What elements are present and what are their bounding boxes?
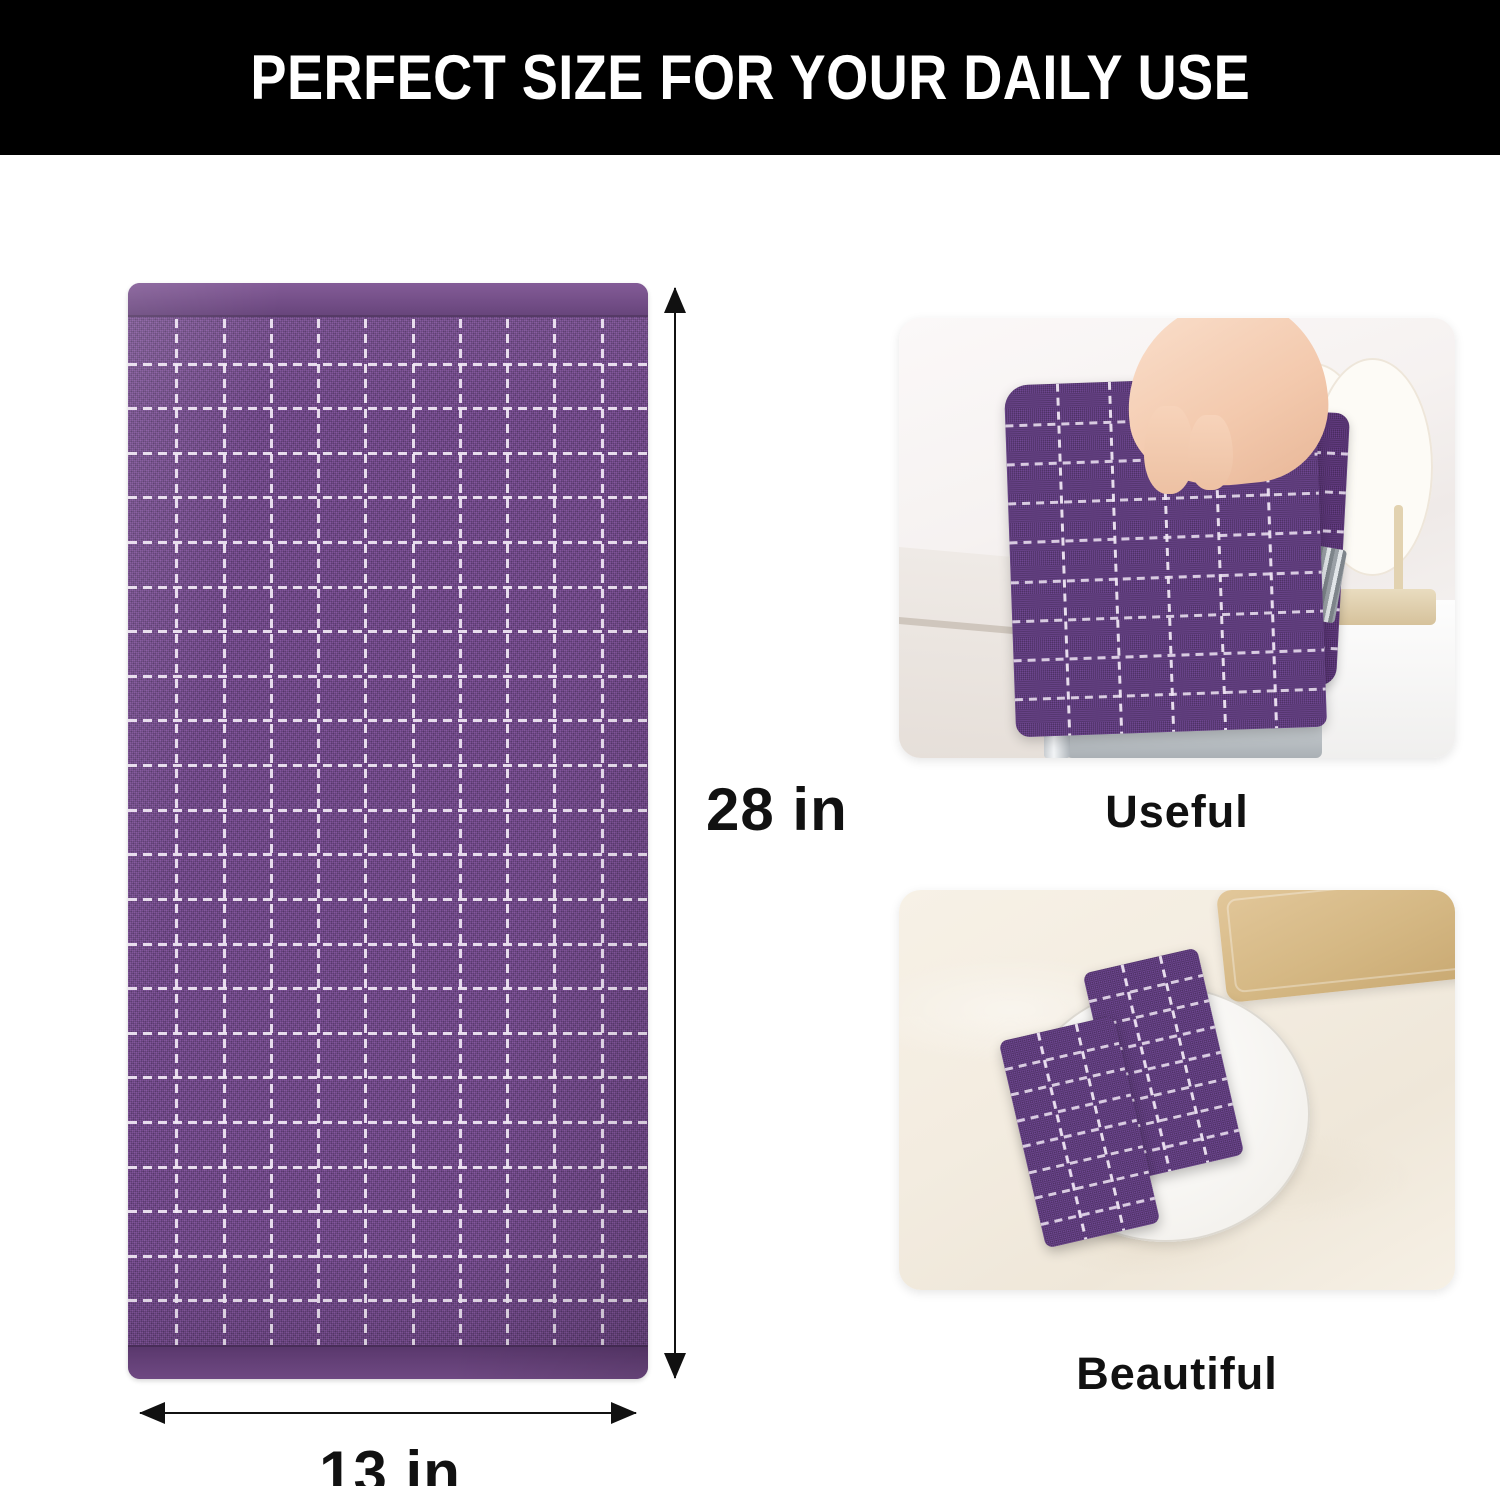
towel-body — [128, 283, 648, 1379]
arrow-head-down-icon — [664, 1353, 686, 1379]
page-title: PERFECT SIZE FOR YOUR DAILY USE — [250, 42, 1250, 114]
header-banner: PERFECT SIZE FOR YOUR DAILY USE — [0, 0, 1500, 155]
towel-shading — [128, 283, 648, 1379]
height-dimension-arrow — [674, 288, 676, 1378]
width-dimension-arrow — [140, 1412, 636, 1414]
height-dimension-label: 28 in — [706, 775, 848, 844]
infographic-canvas: PERFECT SIZE FOR YOUR DAILY USE 28 in 13… — [0, 0, 1500, 1486]
caption-useful: Useful — [899, 786, 1455, 838]
arrow-head-left-icon — [139, 1402, 165, 1424]
photo-useful — [899, 318, 1455, 758]
arrow-head-up-icon — [664, 287, 686, 313]
arrow-head-right-icon — [611, 1402, 637, 1424]
photo-beautiful — [899, 890, 1455, 1290]
width-dimension-label: 13 in — [0, 1438, 780, 1486]
product-towel-image — [128, 283, 648, 1379]
caption-beautiful: Beautiful — [899, 1348, 1455, 1400]
